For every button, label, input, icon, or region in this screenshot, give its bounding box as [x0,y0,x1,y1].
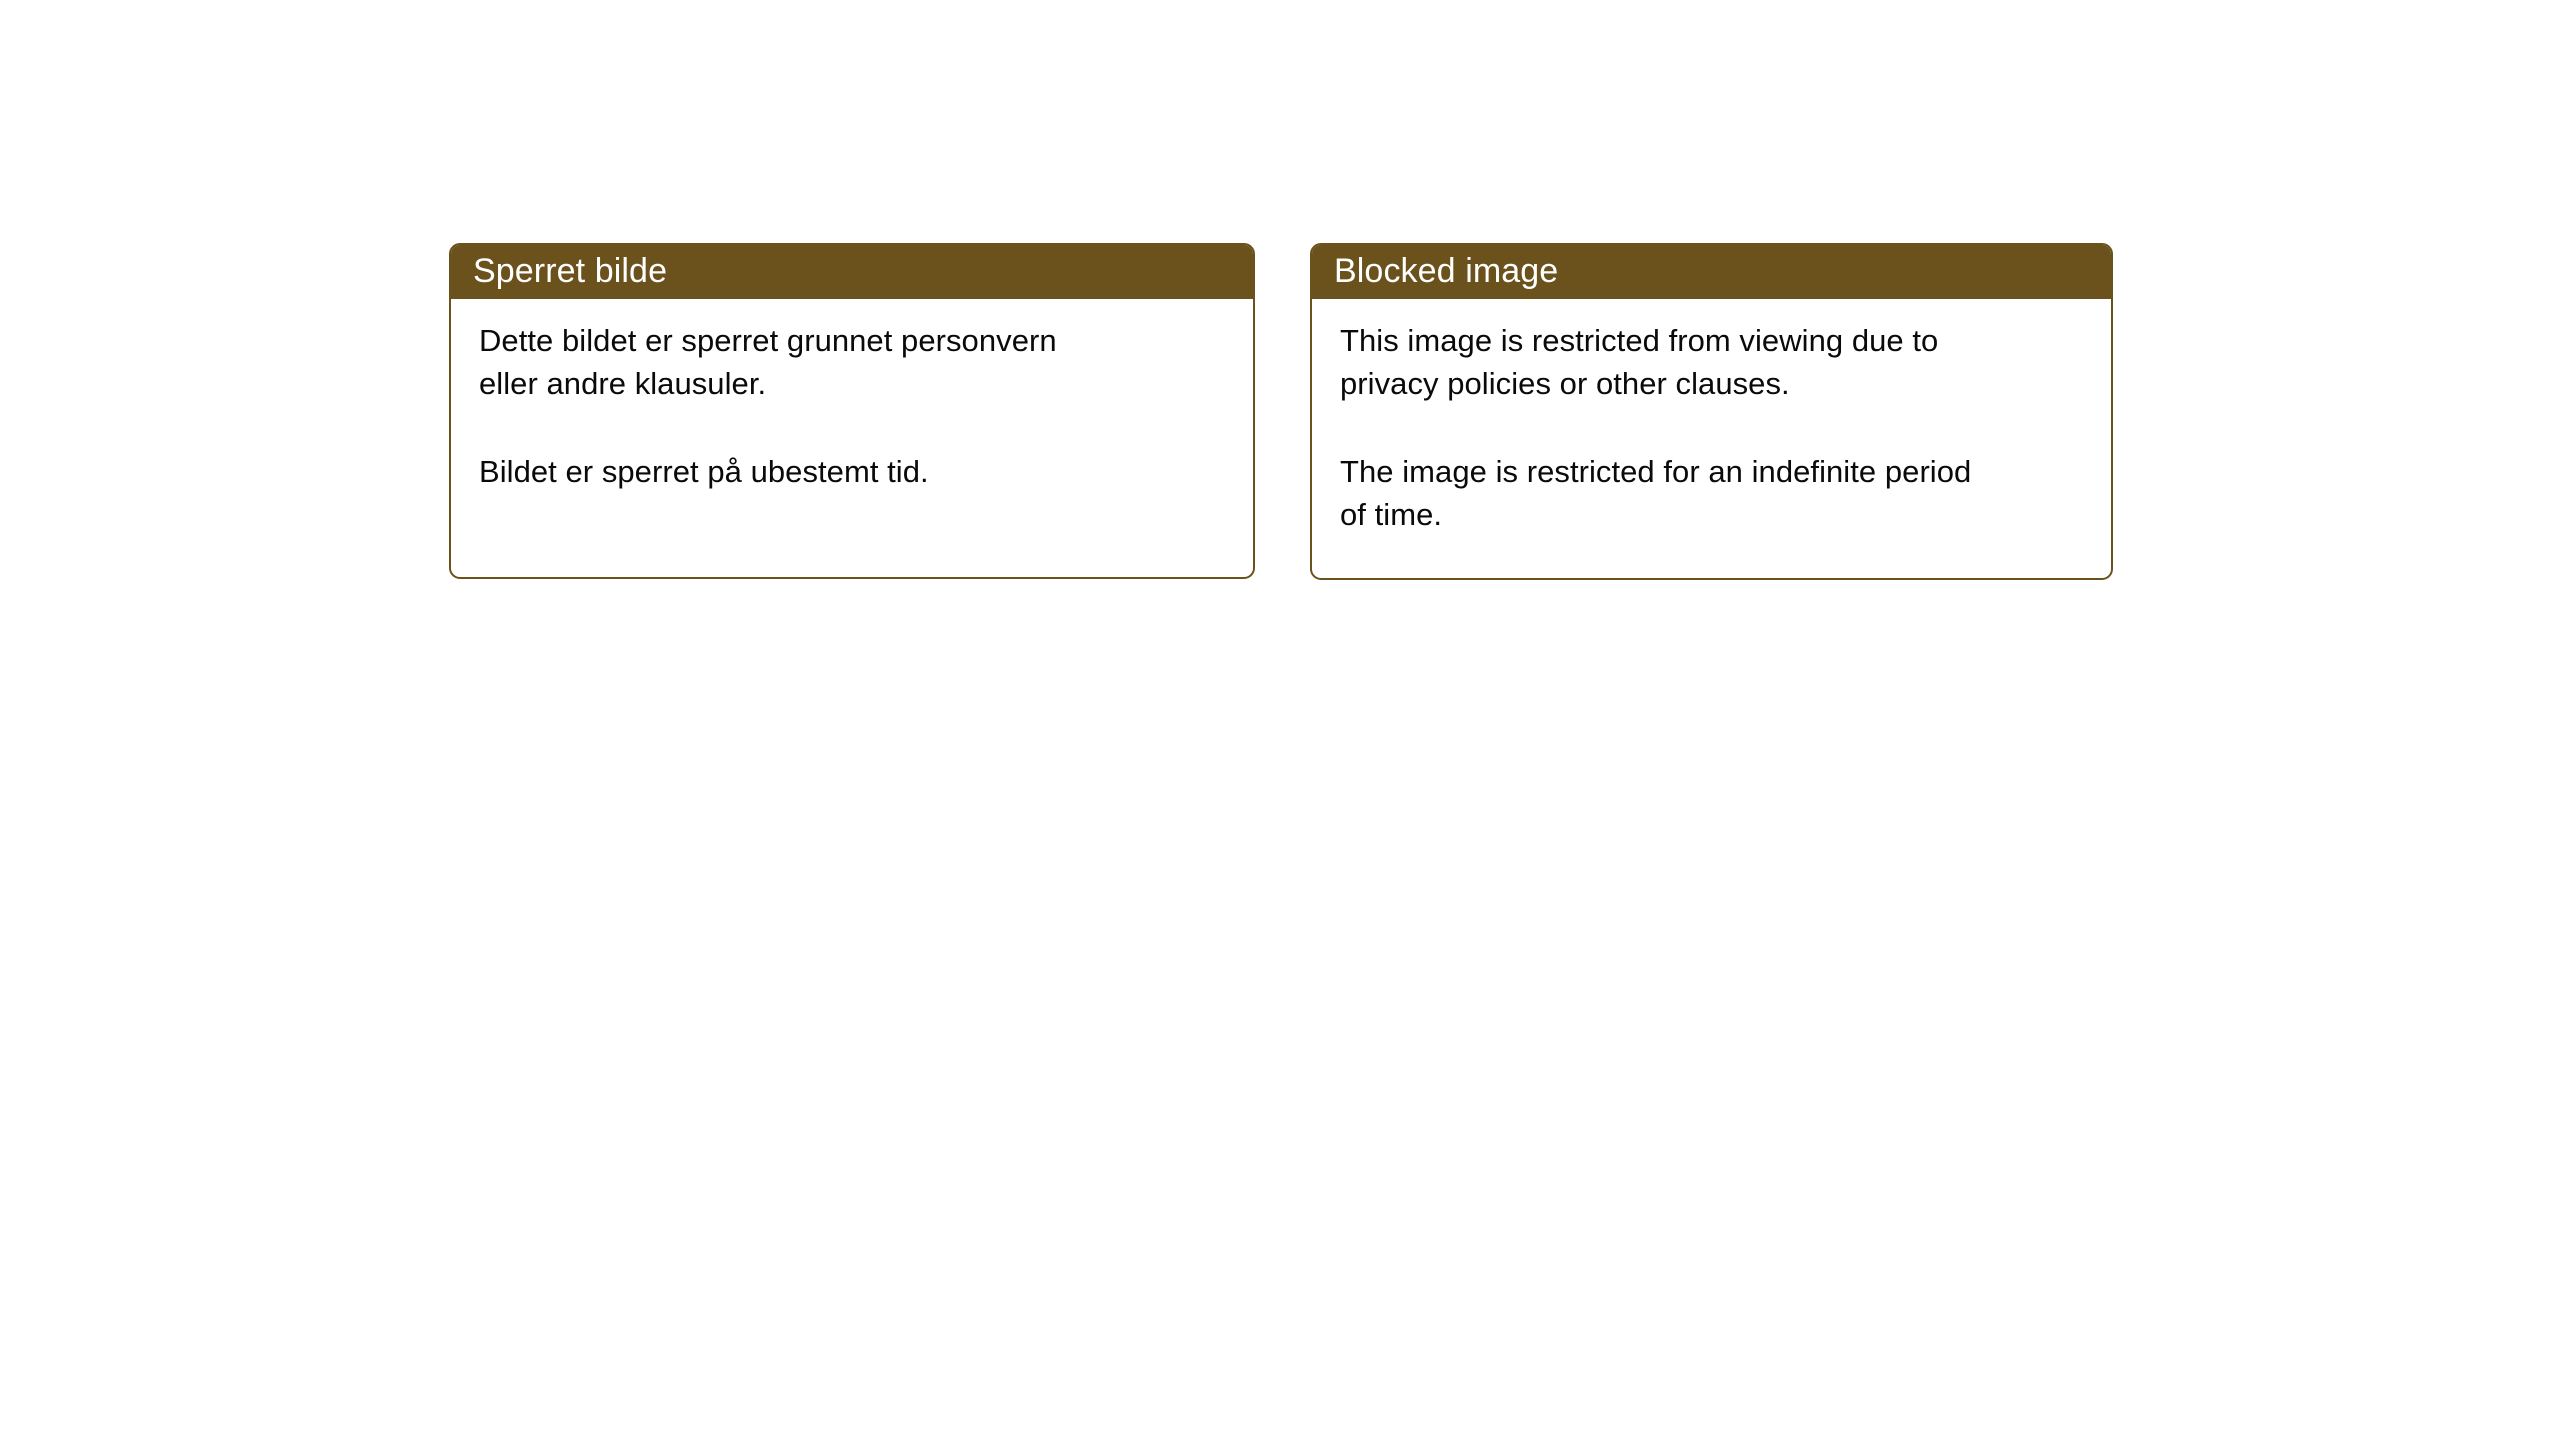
blocked-image-card-en: Blocked image This image is restricted f… [1310,243,2113,580]
card-paragraph-no-1: Dette bildet er sperret grunnet personve… [479,319,1227,405]
card-header-en: Blocked image [1310,243,2113,299]
card-title-no: Sperret bilde [473,253,667,289]
card-paragraph-line: privacy policies or other clauses. [1340,362,2085,405]
card-body-no: Dette bildet er sperret grunnet personve… [451,299,1253,493]
card-paragraph-line: of time. [1340,493,2085,536]
card-paragraph-line: Bildet er sperret på ubestemt tid. [479,450,1227,493]
card-paragraph-en-1: This image is restricted from viewing du… [1340,319,2085,405]
card-paragraph-line: The image is restricted for an indefinit… [1340,450,2085,493]
card-paragraph-no-2: Bildet er sperret på ubestemt tid. [479,450,1227,493]
blocked-image-card-no: Sperret bilde Dette bildet er sperret gr… [449,243,1255,579]
card-paragraph-line: Dette bildet er sperret grunnet personve… [479,319,1227,362]
card-paragraph-line: eller andre klausuler. [479,362,1227,405]
card-header-no: Sperret bilde [449,243,1255,299]
card-body-en: This image is restricted from viewing du… [1312,299,2111,536]
page-canvas: Sperret bilde Dette bildet er sperret gr… [0,0,2560,1440]
card-paragraph-line: This image is restricted from viewing du… [1340,319,2085,362]
card-title-en: Blocked image [1334,253,1558,289]
card-paragraph-en-2: The image is restricted for an indefinit… [1340,450,2085,536]
